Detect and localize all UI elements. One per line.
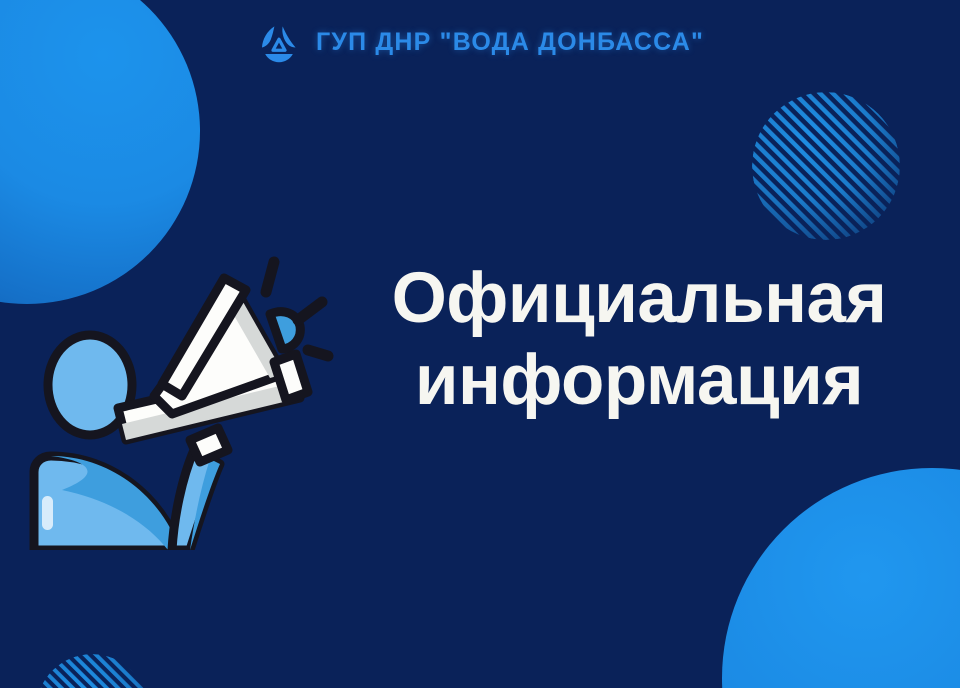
page-title: Официальная информация: [350, 258, 928, 423]
megaphone-handle: [190, 428, 228, 462]
banner-header: ГУП ДНР "ВОДА ДОНБАССА": [0, 14, 960, 70]
brand-title: ГУП ДНР "ВОДА ДОНБАССА": [316, 28, 704, 57]
decorative-striped-sphere-top-right: [752, 92, 900, 240]
headline-line-1: Официальная: [350, 258, 928, 340]
vodadonbassa-logo-icon: [256, 19, 302, 65]
announcement-banner: ГУП ДНР "ВОДА ДОНБАССА" Официальная инфо…: [0, 0, 960, 688]
decorative-circle-bottom-right: [722, 468, 960, 688]
person-with-megaphone-illustration: [22, 250, 342, 550]
headline-line-2: информация: [350, 340, 928, 422]
decorative-striped-sphere-bottom-left: [36, 654, 148, 688]
